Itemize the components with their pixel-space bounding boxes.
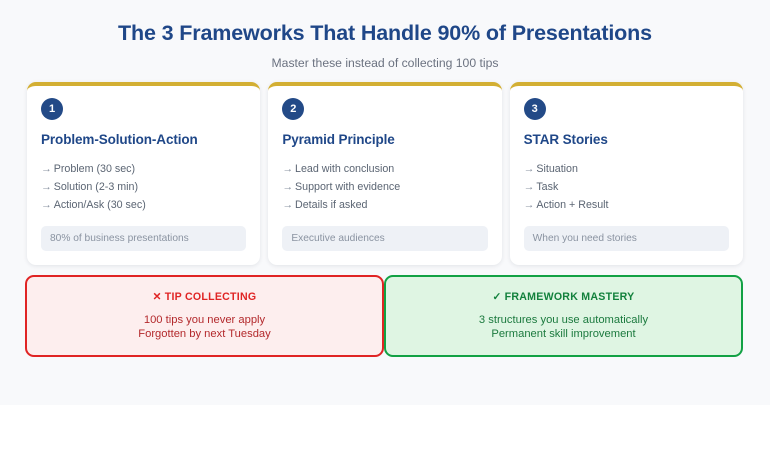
comparison-line: Permanent skill improvement (396, 327, 731, 341)
framework-card[interactable]: 2 Pyramid Principle →Lead with conclusio… (268, 82, 501, 265)
card-title: Problem-Solution-Action (41, 120, 246, 148)
card-step-label: Task (536, 181, 558, 193)
card-usecase-chip: 80% of business presentations (41, 226, 246, 251)
card-step-list: →Problem (30 sec) →Solution (2-3 min) →A… (41, 148, 246, 214)
card-step-label: Details if asked (295, 199, 367, 211)
arrow-right-icon: → (282, 163, 295, 175)
card-step-label: Problem (30 sec) (54, 163, 135, 175)
comparison-negative-lines: 100 tips you never apply Forgotten by ne… (37, 304, 372, 341)
card-number-badge: 2 (282, 98, 304, 120)
comparison-negative-label: ✕TIP COLLECTING (37, 291, 372, 304)
card-step-label: Solution (2-3 min) (54, 181, 138, 193)
comparison-row: ✕TIP COLLECTING 100 tips you never apply… (25, 275, 743, 357)
card-number-badge: 1 (41, 98, 63, 120)
card-step: →Situation (524, 160, 729, 178)
content-panel: The 3 Frameworks That Handle 90% of Pres… (0, 0, 770, 405)
card-step-label: Action/Ask (30 sec) (54, 199, 146, 211)
card-step-label: Support with evidence (295, 181, 400, 193)
page-title: The 3 Frameworks That Handle 90% of Pres… (0, 21, 770, 47)
slide-root: The 3 Frameworks That Handle 90% of Pres… (0, 0, 770, 450)
comparison-positive-lines: 3 structures you use automatically Perma… (396, 304, 731, 341)
arrow-right-icon: → (524, 199, 537, 211)
card-step-list: →Situation →Task →Action + Result (524, 148, 729, 214)
card-step: →Lead with conclusion (282, 160, 487, 178)
card-step: →Support with evidence (282, 178, 487, 196)
page-subtitle: Master these instead of collecting 100 t… (0, 47, 770, 71)
card-step: →Action + Result (524, 196, 729, 214)
card-usecase-chip: Executive audiences (282, 226, 487, 251)
card-step-label: Lead with conclusion (295, 163, 394, 175)
arrow-right-icon: → (282, 181, 295, 193)
comparison-negative-title: TIP COLLECTING (165, 291, 257, 303)
card-step: →Solution (2-3 min) (41, 178, 246, 196)
arrow-right-icon: → (282, 199, 295, 211)
framework-card[interactable]: 3 STAR Stories →Situation →Task →Action … (510, 82, 743, 265)
comparison-box-positive: ✓FRAMEWORK MASTERY 3 structures you use … (384, 275, 743, 357)
card-title: Pyramid Principle (282, 120, 487, 148)
card-step: →Problem (30 sec) (41, 160, 246, 178)
card-number-badge: 3 (524, 98, 546, 120)
card-title: STAR Stories (524, 120, 729, 148)
card-step: →Action/Ask (30 sec) (41, 196, 246, 214)
framework-card-list: 1 Problem-Solution-Action →Problem (30 s… (27, 82, 743, 265)
card-step: →Task (524, 178, 729, 196)
comparison-positive-title: FRAMEWORK MASTERY (505, 291, 635, 303)
comparison-line: 100 tips you never apply (37, 313, 372, 327)
framework-card[interactable]: 1 Problem-Solution-Action →Problem (30 s… (27, 82, 260, 265)
comparison-positive-label: ✓FRAMEWORK MASTERY (396, 291, 731, 304)
arrow-right-icon: → (41, 199, 54, 211)
card-step: →Details if asked (282, 196, 487, 214)
comparison-line: 3 structures you use automatically (396, 313, 731, 327)
arrow-right-icon: → (524, 181, 537, 193)
check-icon: ✓ (493, 291, 505, 303)
card-usecase-chip: When you need stories (524, 226, 729, 251)
comparison-box-negative: ✕TIP COLLECTING 100 tips you never apply… (25, 275, 384, 357)
cross-icon: ✕ (153, 291, 165, 303)
card-step-label: Situation (536, 163, 578, 175)
comparison-line: Forgotten by next Tuesday (37, 327, 372, 341)
header: The 3 Frameworks That Handle 90% of Pres… (0, 0, 770, 70)
arrow-right-icon: → (41, 163, 54, 175)
arrow-right-icon: → (524, 163, 537, 175)
card-step-list: →Lead with conclusion →Support with evid… (282, 148, 487, 214)
card-step-label: Action + Result (536, 199, 608, 211)
arrow-right-icon: → (41, 181, 54, 193)
